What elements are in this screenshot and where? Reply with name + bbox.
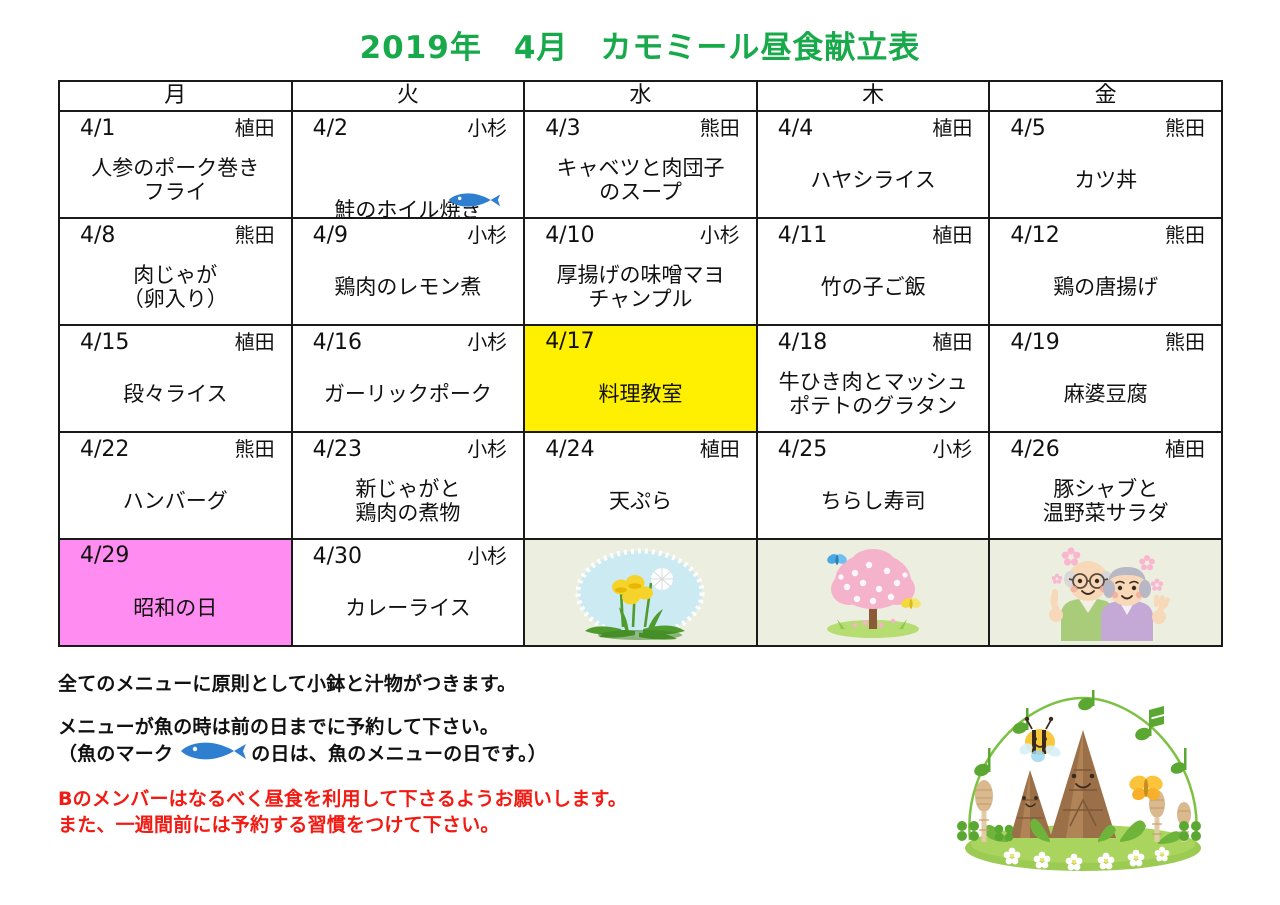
calendar-cell-4-5[interactable]: 4/5熊田カツ丼 bbox=[989, 111, 1222, 218]
cell-staff-name: 熊田 bbox=[235, 435, 275, 463]
cell-menu-line: フライ bbox=[144, 181, 207, 205]
calendar-container: 月火水木金 4/1植田人参のポーク巻きフライ4/2小杉鮭のホイル焼き 4/3熊田… bbox=[58, 80, 1223, 647]
calendar-cell-4-18[interactable]: 4/18植田牛ひき肉とマッシュポテトのグラタン bbox=[757, 325, 990, 432]
page-title: 2019年 4月 カモミール昼食献立表 bbox=[0, 22, 1280, 67]
cell-menu-line: 竹の子ご飯 bbox=[821, 276, 926, 300]
cell-menu: 肉じゃが（卵入り） bbox=[60, 253, 291, 323]
cell-menu: 天ぷら bbox=[525, 467, 756, 537]
fish-icon bbox=[447, 191, 501, 213]
cell-date: 4/12 bbox=[1010, 222, 1059, 250]
cell-menu: カレーライス bbox=[293, 574, 524, 644]
calendar-cell-4-17[interactable]: 4/17料理教室 bbox=[524, 325, 757, 432]
cell-header: 4/2小杉 bbox=[293, 112, 524, 142]
cell-staff-name: 熊田 bbox=[1165, 221, 1205, 249]
cell-header: 4/23小杉 bbox=[293, 433, 524, 463]
cell-date: 4/11 bbox=[778, 222, 827, 250]
cell-staff-name: 植田 bbox=[235, 328, 275, 356]
cell-date: 4/10 bbox=[545, 222, 594, 250]
cell-staff-name: 小杉 bbox=[467, 435, 507, 463]
cell-menu-line: 天ぷら bbox=[609, 490, 672, 514]
cell-date: 4/15 bbox=[80, 329, 129, 357]
cell-menu-line: ガーリックポーク bbox=[324, 383, 492, 407]
calendar-cell-4-1[interactable]: 4/1植田人参のポーク巻きフライ bbox=[59, 111, 292, 218]
cell-menu: 牛ひき肉とマッシュポテトのグラタン bbox=[758, 360, 989, 430]
cell-menu-line: ハヤシライス bbox=[810, 169, 935, 193]
bamboo-shoots-spring-illustration bbox=[938, 690, 1228, 880]
cell-date: 4/22 bbox=[80, 436, 129, 464]
calendar-cell-4-22[interactable]: 4/22熊田ハンバーグ bbox=[59, 432, 292, 539]
calendar-cell-4-11[interactable]: 4/11植田竹の子ご飯 bbox=[757, 218, 990, 325]
cell-menu: 麻婆豆腐 bbox=[990, 360, 1221, 430]
dandelion-illustration bbox=[525, 540, 756, 645]
note-line-member-request-1: Bのメンバーはなるべく昼食を利用して下さるようお願いします。 bbox=[58, 787, 958, 813]
cell-header: 4/25小杉 bbox=[758, 433, 989, 463]
note-line-side-dishes: 全てのメニューに原則として小鉢と汁物がつきます。 bbox=[58, 672, 958, 698]
cell-header: 4/10小杉 bbox=[525, 219, 756, 249]
cell-menu-line: 昭和の日 bbox=[133, 597, 217, 621]
day-header-0: 月 bbox=[59, 81, 292, 111]
cell-menu-line: 厚揚げの味噌マヨ bbox=[556, 264, 724, 288]
calendar-cell-4-8[interactable]: 4/8熊田肉じゃが（卵入り） bbox=[59, 218, 292, 325]
cell-menu: 料理教室 bbox=[525, 360, 756, 430]
cell-header: 4/30小杉 bbox=[293, 540, 524, 570]
cell-menu: 鶏の唐揚げ bbox=[990, 253, 1221, 323]
cell-menu: ガーリックポーク bbox=[293, 360, 524, 430]
calendar-cell-4-9[interactable]: 4/9小杉鶏肉のレモン煮 bbox=[292, 218, 525, 325]
cell-menu-line: 料理教室 bbox=[598, 383, 682, 407]
cell-staff-name: 植田 bbox=[932, 328, 972, 356]
note-block-fish-reservation: メニューが魚の時は前の日までに予約して下さい。 （魚のマーク の日は、魚のメニュ… bbox=[58, 715, 958, 770]
calendar-cell-illustration bbox=[524, 539, 757, 646]
cell-menu: ちらし寿司 bbox=[758, 467, 989, 537]
cell-menu-line: 鶏肉のレモン煮 bbox=[334, 276, 481, 300]
calendar-week-row: 4/29昭和の日4/30小杉カレーライス bbox=[59, 539, 1222, 646]
cell-menu-line: 麻婆豆腐 bbox=[1064, 383, 1148, 407]
cell-menu-line: カツ丼 bbox=[1074, 169, 1137, 193]
cell-date: 4/8 bbox=[80, 222, 115, 250]
calendar-cell-4-16[interactable]: 4/16小杉ガーリックポーク bbox=[292, 325, 525, 432]
cell-date: 4/4 bbox=[778, 115, 813, 143]
cell-date: 4/2 bbox=[313, 115, 348, 143]
cell-header: 4/29 bbox=[60, 540, 291, 570]
cell-menu-line: カレーライス bbox=[345, 597, 470, 621]
cell-menu-line: ちらし寿司 bbox=[821, 490, 926, 514]
cell-date: 4/19 bbox=[1010, 329, 1059, 357]
cell-menu: 新じゃがと鶏肉の煮物 bbox=[293, 467, 524, 537]
cell-staff-name: 小杉 bbox=[467, 542, 507, 570]
cell-date: 4/23 bbox=[313, 436, 362, 464]
cell-menu: 厚揚げの味噌マヨチャンプル bbox=[525, 253, 756, 323]
cell-menu: 段々ライス bbox=[60, 360, 291, 430]
calendar-cell-4-29[interactable]: 4/29昭和の日 bbox=[59, 539, 292, 646]
cell-header: 4/15植田 bbox=[60, 326, 291, 356]
cell-header: 4/9小杉 bbox=[293, 219, 524, 249]
calendar-header: 月火水木金 bbox=[59, 81, 1222, 111]
note-fish-mark-prefix: （魚のマーク bbox=[58, 742, 173, 768]
cell-header: 4/19熊田 bbox=[990, 326, 1221, 356]
calendar-cell-4-24[interactable]: 4/24植田天ぷら bbox=[524, 432, 757, 539]
elderly-couple-illustration bbox=[990, 540, 1221, 645]
cell-staff-name: 植田 bbox=[235, 114, 275, 142]
cell-staff-name: 小杉 bbox=[932, 435, 972, 463]
calendar-week-row: 4/22熊田ハンバーグ4/23小杉新じゃがと鶏肉の煮物4/24植田天ぷら4/25… bbox=[59, 432, 1222, 539]
cell-menu-line: 肉じゃが bbox=[133, 264, 217, 288]
cell-header: 4/1植田 bbox=[60, 112, 291, 142]
fish-icon bbox=[179, 740, 247, 770]
cell-menu-line: ポテトのグラタン bbox=[789, 395, 957, 419]
cell-date: 4/24 bbox=[545, 436, 594, 464]
cell-menu-line: 鶏の唐揚げ bbox=[1053, 276, 1158, 300]
notes-section: 全てのメニューに原則として小鉢と汁物がつきます。 メニューが魚の時は前の日までに… bbox=[58, 672, 958, 838]
cell-date: 4/17 bbox=[545, 328, 594, 356]
day-header-3: 木 bbox=[757, 81, 990, 111]
note-line-member-request-2: また、一週間前には予約する習慣をつけて下さい。 bbox=[58, 813, 958, 839]
cell-staff-name: 小杉 bbox=[467, 221, 507, 249]
cell-staff-name: 植田 bbox=[1165, 435, 1205, 463]
calendar-cell-illustration bbox=[757, 539, 990, 646]
cell-menu-line: （卵入り） bbox=[123, 288, 228, 312]
cell-staff-name: 植田 bbox=[932, 114, 972, 142]
cell-header: 4/26植田 bbox=[990, 433, 1221, 463]
cell-header: 4/22熊田 bbox=[60, 433, 291, 463]
calendar-week-row: 4/8熊田肉じゃが（卵入り）4/9小杉鶏肉のレモン煮4/10小杉厚揚げの味噌マヨ… bbox=[59, 218, 1222, 325]
cell-menu: 人参のポーク巻きフライ bbox=[60, 146, 291, 216]
day-header-2: 水 bbox=[524, 81, 757, 111]
calendar-cell-4-4[interactable]: 4/4植田ハヤシライス bbox=[757, 111, 990, 218]
calendar-cell-4-15[interactable]: 4/15植田段々ライス bbox=[59, 325, 292, 432]
cell-menu-line: ハンバーグ bbox=[123, 490, 228, 514]
cell-menu-line: 温野菜サラダ bbox=[1043, 502, 1169, 526]
cell-date: 4/9 bbox=[313, 222, 348, 250]
cell-header: 4/18植田 bbox=[758, 326, 989, 356]
menu-calendar-page: 2019年 4月 カモミール昼食献立表 月火水木金 4/1植田人参のポーク巻きフ… bbox=[0, 0, 1280, 905]
cell-header: 4/4植田 bbox=[758, 112, 989, 142]
cell-header: 4/5熊田 bbox=[990, 112, 1221, 142]
cell-menu: カツ丼 bbox=[990, 146, 1221, 216]
cell-menu-line: 豚シャブと bbox=[1053, 478, 1158, 502]
cell-menu-line: 新じゃがと bbox=[355, 478, 460, 502]
note-line-fish-reservation: メニューが魚の時は前の日までに予約して下さい。 bbox=[58, 715, 958, 741]
day-header-1: 火 bbox=[292, 81, 525, 111]
cell-menu-line: キャベツと肉団子 bbox=[556, 157, 724, 181]
cell-header: 4/11植田 bbox=[758, 219, 989, 249]
cell-menu-line: 牛ひき肉とマッシュ bbox=[779, 371, 968, 395]
cell-staff-name: 熊田 bbox=[1165, 328, 1205, 356]
calendar-cell-illustration bbox=[989, 539, 1222, 646]
calendar-cell-4-25[interactable]: 4/25小杉ちらし寿司 bbox=[757, 432, 990, 539]
note-line-fish-mark: （魚のマーク の日は、魚のメニューの日です。） bbox=[58, 740, 958, 770]
day-header-row: 月火水木金 bbox=[59, 81, 1222, 111]
cell-date: 4/5 bbox=[1010, 115, 1045, 143]
cell-header: 4/24植田 bbox=[525, 433, 756, 463]
note-block-side-dishes: 全てのメニューに原則として小鉢と汁物がつきます。 bbox=[58, 672, 958, 698]
cell-date: 4/1 bbox=[80, 115, 115, 143]
cell-date: 4/26 bbox=[1010, 436, 1059, 464]
cell-staff-name: 小杉 bbox=[700, 221, 740, 249]
cell-menu: ハンバーグ bbox=[60, 467, 291, 537]
calendar-cell-4-30[interactable]: 4/30小杉カレーライス bbox=[292, 539, 525, 646]
cell-menu: キャベツと肉団子のスープ bbox=[525, 146, 756, 216]
cell-staff-name: 小杉 bbox=[467, 114, 507, 142]
cell-staff-name: 熊田 bbox=[1165, 114, 1205, 142]
cell-staff-name: 熊田 bbox=[235, 221, 275, 249]
cell-menu: 昭和の日 bbox=[60, 574, 291, 644]
cell-date: 4/3 bbox=[545, 115, 580, 143]
cell-date: 4/18 bbox=[778, 329, 827, 357]
calendar-cell-4-26[interactable]: 4/26植田豚シャブと温野菜サラダ bbox=[989, 432, 1222, 539]
calendar-body: 4/1植田人参のポーク巻きフライ4/2小杉鮭のホイル焼き 4/3熊田キャベツと肉… bbox=[59, 111, 1222, 646]
cell-date: 4/25 bbox=[778, 436, 827, 464]
cell-header: 4/3熊田 bbox=[525, 112, 756, 142]
calendar-week-row: 4/15植田段々ライス4/16小杉ガーリックポーク4/17料理教室4/18植田牛… bbox=[59, 325, 1222, 432]
cell-menu-line: 鶏肉の煮物 bbox=[355, 502, 460, 526]
calendar-week-row: 4/1植田人参のポーク巻きフライ4/2小杉鮭のホイル焼き 4/3熊田キャベツと肉… bbox=[59, 111, 1222, 218]
cell-date: 4/16 bbox=[313, 329, 362, 357]
cell-staff-name: 植田 bbox=[932, 221, 972, 249]
day-header-4: 金 bbox=[989, 81, 1222, 111]
cell-staff-name: 熊田 bbox=[700, 114, 740, 142]
cell-header: 4/8熊田 bbox=[60, 219, 291, 249]
cell-staff-name: 小杉 bbox=[467, 328, 507, 356]
cell-menu: 豚シャブと温野菜サラダ bbox=[990, 467, 1221, 537]
calendar-cell-4-10[interactable]: 4/10小杉厚揚げの味噌マヨチャンプル bbox=[524, 218, 757, 325]
calendar-cell-4-23[interactable]: 4/23小杉新じゃがと鶏肉の煮物 bbox=[292, 432, 525, 539]
calendar-cell-4-12[interactable]: 4/12熊田鶏の唐揚げ bbox=[989, 218, 1222, 325]
cell-staff-name: 植田 bbox=[700, 435, 740, 463]
calendar-cell-4-2[interactable]: 4/2小杉鮭のホイル焼き bbox=[292, 111, 525, 218]
cell-header: 4/17 bbox=[525, 326, 756, 356]
note-fish-mark-suffix: の日は、魚のメニューの日です。） bbox=[251, 742, 547, 768]
cell-menu: 鶏肉のレモン煮 bbox=[293, 253, 524, 323]
cell-menu-line: 人参のポーク巻き bbox=[91, 157, 259, 181]
cell-menu: 竹の子ご飯 bbox=[758, 253, 989, 323]
cell-date: 4/30 bbox=[313, 543, 362, 571]
cell-date: 4/29 bbox=[80, 542, 129, 570]
cell-menu-line: チャンプル bbox=[588, 288, 692, 312]
cell-header: 4/16小杉 bbox=[293, 326, 524, 356]
calendar-cell-4-19[interactable]: 4/19熊田麻婆豆腐 bbox=[989, 325, 1222, 432]
cell-menu-line: 段々ライス bbox=[123, 383, 227, 407]
menu-calendar-table: 月火水木金 4/1植田人参のポーク巻きフライ4/2小杉鮭のホイル焼き 4/3熊田… bbox=[58, 80, 1223, 647]
note-block-member-request: Bのメンバーはなるべく昼食を利用して下さるようお願いします。 また、一週間前には… bbox=[58, 787, 958, 838]
cell-menu-line: のスープ bbox=[599, 181, 682, 205]
cherry-blossom-tree-illustration bbox=[758, 540, 989, 645]
cell-menu: ハヤシライス bbox=[758, 146, 989, 216]
cell-header: 4/12熊田 bbox=[990, 219, 1221, 249]
calendar-cell-4-3[interactable]: 4/3熊田キャベツと肉団子のスープ bbox=[524, 111, 757, 218]
